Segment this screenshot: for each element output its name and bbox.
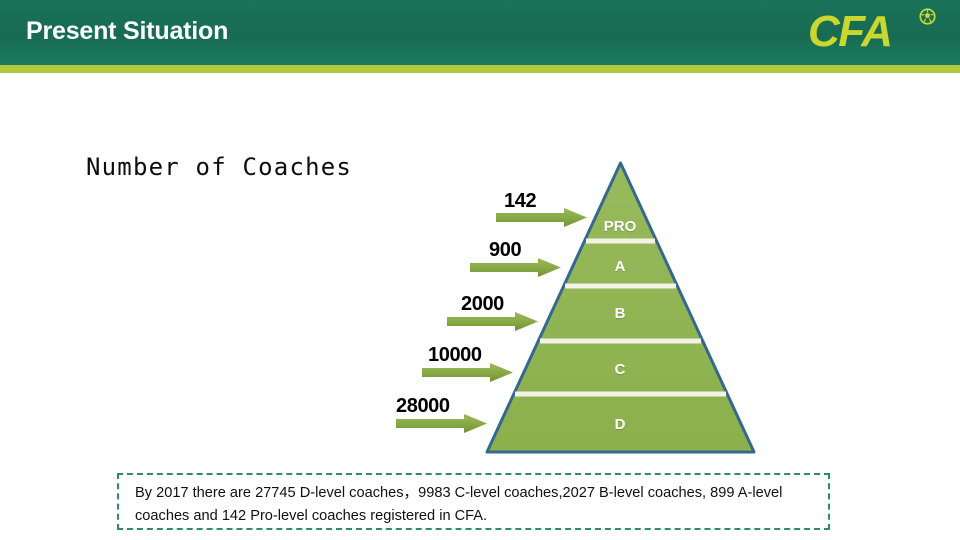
pyramid-tier-label-c: C <box>560 361 680 378</box>
slide-header-bar: Present Situation CFA <box>0 0 960 65</box>
arrow-right-icon-b <box>447 312 539 334</box>
pyramid-tier-label-d: D <box>560 416 680 433</box>
pyramid-tier-label-a: A <box>560 258 680 275</box>
arrow-right-icon-c <box>422 363 514 385</box>
arrow-right-icon-d <box>396 414 488 436</box>
page-title: Present Situation <box>26 17 228 46</box>
arrow-right-icon-a <box>470 258 562 280</box>
pyramid-tier-label-b: B <box>560 305 680 322</box>
cfa-logo: CFA <box>808 6 938 62</box>
header-accent-stripe <box>0 65 960 73</box>
caption-box: By 2017 there are 27745 D-level coaches，… <box>117 473 830 530</box>
cfa-logo-text: CFA <box>808 6 892 58</box>
soccer-ball-icon <box>919 8 936 25</box>
arrow-right-icon-pro <box>496 208 588 230</box>
caption-text: By 2017 there are 27745 D-level coaches，… <box>135 482 805 528</box>
chart-heading: Number of Coaches <box>86 153 352 181</box>
